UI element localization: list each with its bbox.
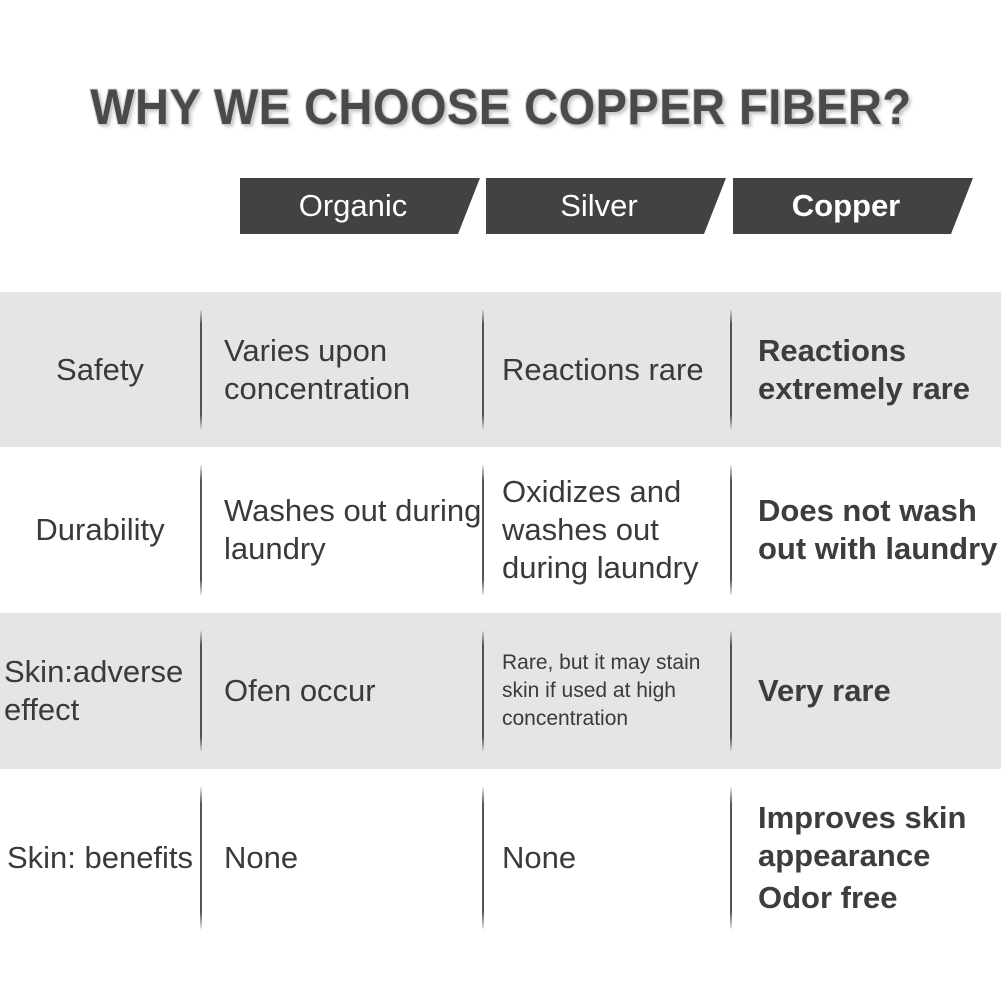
tab-copper-label: Copper	[719, 178, 973, 234]
table-row: Safety Varies upon concentration Reactio…	[0, 292, 1001, 447]
row-label: Skin: benefits	[7, 839, 193, 877]
row-label-cell: Durability	[0, 447, 200, 613]
row-label-cell: Skin: benefits	[0, 769, 200, 947]
cell-copper-text: Improves skin appearance	[758, 799, 1001, 875]
cell-silver: None	[482, 769, 730, 947]
cell-organic: Washes out during laundry	[200, 447, 482, 613]
column-header-tabs: Organic Silver Copper	[0, 178, 1001, 234]
cell-organic: None	[200, 769, 482, 947]
tab-organic[interactable]: Organic	[240, 178, 480, 234]
cell-silver: Reactions rare	[482, 292, 730, 447]
cell-copper-extra-text: Odor free	[758, 879, 1001, 917]
row-label: Safety	[56, 351, 144, 389]
cell-copper: Improves skin appearance Odor free	[730, 769, 1001, 947]
cell-copper: Does not wash out with laundry	[730, 447, 1001, 613]
cell-organic-text: Washes out during laundry	[224, 492, 482, 568]
tab-silver-label: Silver	[472, 178, 726, 234]
cell-copper-text: Does not wash out with laundry	[758, 492, 1001, 568]
table-row: Durability Washes out during laundry Oxi…	[0, 447, 1001, 613]
cell-organic-text: None	[224, 839, 298, 877]
table-row: Skin:adverse effect Ofen occur Rare, but…	[0, 613, 1001, 769]
cell-copper-text: Reactions extremely rare	[758, 332, 1001, 408]
cell-copper: Reactions extremely rare	[730, 292, 1001, 447]
cell-silver-text: Oxidizes and washes out during laundry	[502, 473, 730, 586]
cell-silver: Rare, but it may stain skin if used at h…	[482, 613, 730, 769]
row-label-cell: Skin:adverse effect	[0, 613, 200, 769]
cell-organic-text: Varies upon concentration	[224, 332, 482, 408]
comparison-table: Safety Varies upon concentration Reactio…	[0, 292, 1001, 947]
row-label: Durability	[35, 511, 164, 549]
table-row: Skin: benefits None None Improves skin a…	[0, 769, 1001, 947]
cell-copper: Very rare	[730, 613, 1001, 769]
cell-organic-text: Ofen occur	[224, 672, 376, 710]
tab-copper[interactable]: Copper	[733, 178, 973, 234]
cell-silver: Oxidizes and washes out during laundry	[482, 447, 730, 613]
row-label-cell: Safety	[0, 292, 200, 447]
cell-silver-text: Reactions rare	[502, 351, 704, 389]
cell-silver-text: None	[502, 839, 576, 877]
cell-silver-text: Rare, but it may stain skin if used at h…	[502, 649, 730, 732]
page-title-container: WHY WE CHOOSE COPPER FIBER?	[0, 78, 1001, 136]
tab-organic-label: Organic	[226, 178, 480, 234]
page-title: WHY WE CHOOSE COPPER FIBER?	[90, 78, 911, 136]
row-label: Skin:adverse effect	[4, 653, 196, 729]
tab-silver[interactable]: Silver	[486, 178, 726, 234]
cell-copper-group: Improves skin appearance Odor free	[758, 799, 1001, 916]
cell-organic: Ofen occur	[200, 613, 482, 769]
cell-organic: Varies upon concentration	[200, 292, 482, 447]
cell-copper-text: Very rare	[758, 672, 891, 710]
